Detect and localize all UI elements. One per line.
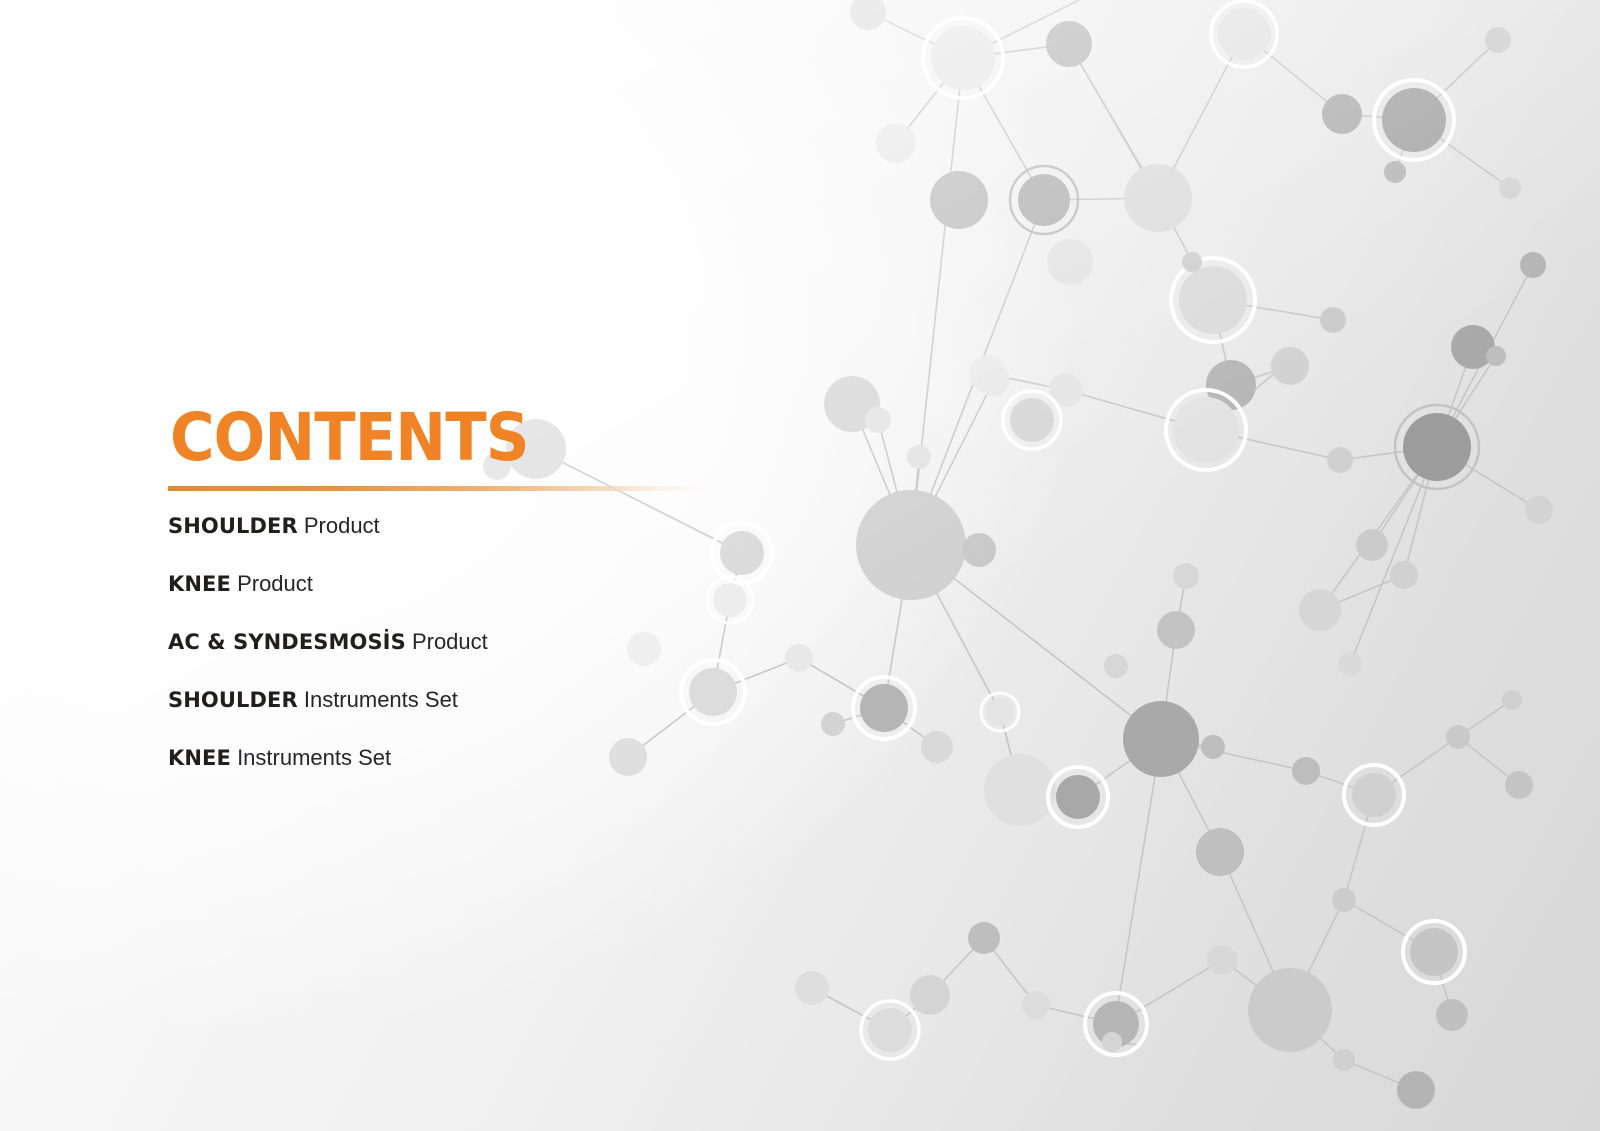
list-item-rest: Instruments Set: [231, 745, 391, 770]
title-divider: [168, 486, 713, 491]
list-item-strong: AC & SYNDESMOSİS: [168, 630, 406, 654]
contents-slide: CONTENTS SHOULDER Product KNEE Product A…: [0, 0, 1600, 1131]
list-item-strong: SHOULDER: [168, 688, 298, 712]
page-title: CONTENTS: [170, 404, 867, 472]
list-item-rest: Instruments Set: [298, 687, 458, 712]
list-item-rest: Product: [298, 513, 380, 538]
list-item-strong: KNEE: [168, 572, 231, 596]
list-item-strong: SHOULDER: [168, 514, 298, 538]
list-item[interactable]: KNEE Instruments Set: [168, 745, 928, 771]
list-item[interactable]: KNEE Product: [168, 571, 928, 597]
list-item-rest: Product: [406, 629, 488, 654]
list-item-rest: Product: [231, 571, 313, 596]
contents-block: CONTENTS SHOULDER Product KNEE Product A…: [168, 404, 928, 771]
list-item[interactable]: SHOULDER Instruments Set: [168, 687, 928, 713]
list-item[interactable]: SHOULDER Product: [168, 513, 928, 539]
contents-list: SHOULDER Product KNEE Product AC & SYNDE…: [168, 513, 928, 771]
list-item[interactable]: AC & SYNDESMOSİS Product: [168, 629, 928, 655]
list-item-strong: KNEE: [168, 746, 231, 770]
